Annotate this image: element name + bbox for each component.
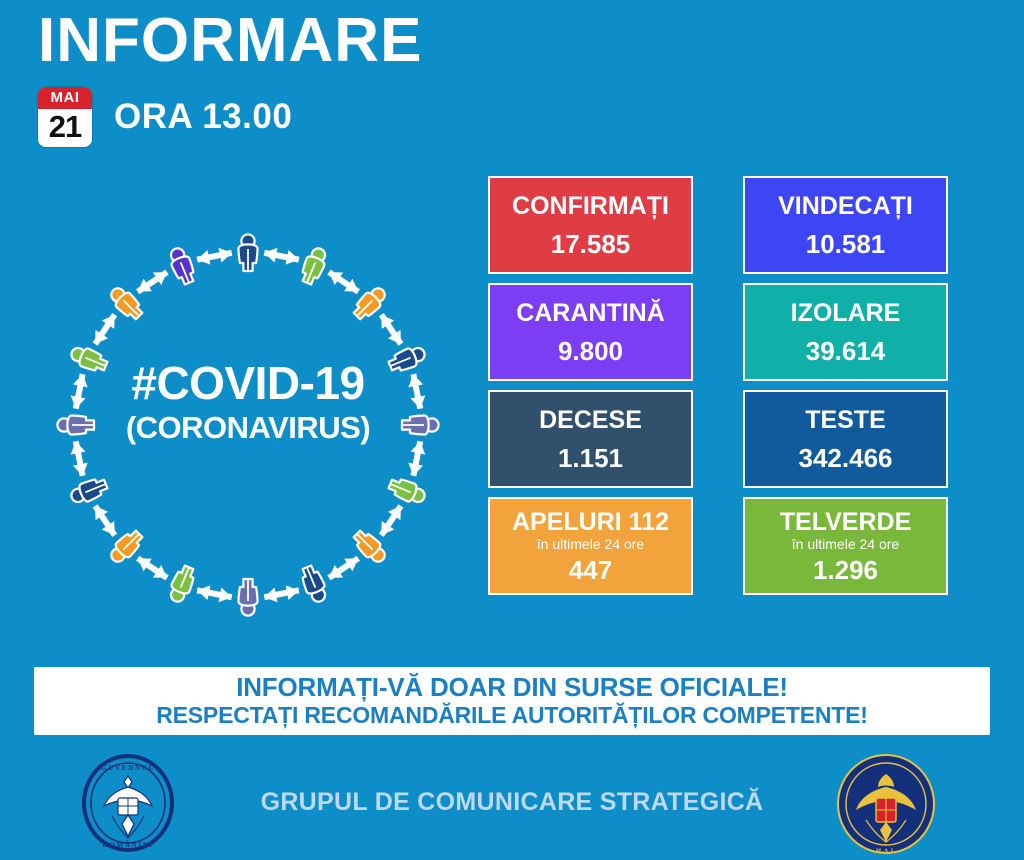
stat-label: IZOLARE bbox=[791, 299, 901, 327]
person-icon bbox=[239, 579, 258, 616]
emblem-right-text-bottom: M.A.I. bbox=[876, 848, 896, 854]
person-icon bbox=[239, 234, 258, 271]
footer: GUVERNUL ROMÂNIEI GRUPUL DE COMUNICARE S… bbox=[0, 752, 1024, 856]
emblem-left-text-top: GUVERNUL bbox=[101, 764, 155, 772]
person-icon bbox=[387, 343, 428, 375]
stat-value: 342.466 bbox=[799, 443, 893, 473]
stat-label: DECESE bbox=[539, 406, 642, 434]
stat-value: 39.614 bbox=[806, 336, 886, 366]
calendar-day: 21 bbox=[38, 109, 92, 147]
calendar-month: MAI bbox=[38, 87, 92, 109]
official-sources-banner: INFORMAȚI-VĂ DOAR DIN SURSE OFICIALE! RE… bbox=[34, 667, 990, 735]
stat-value: 17.585 bbox=[551, 229, 631, 259]
person-icon bbox=[298, 564, 330, 605]
person-icon bbox=[68, 343, 109, 375]
people-circle-icon: #COVID-19 (CORONAVIRUS) bbox=[38, 215, 458, 635]
stat-card-confirmati[interactable]: CONFIRMAȚI 17.585 bbox=[488, 176, 693, 274]
departamentul-situatii-urgenta-emblem: M.A.I. bbox=[836, 754, 936, 859]
date-bar: MAI 21 ORA 13.00 bbox=[38, 87, 638, 147]
stat-label: CONFIRMAȚI bbox=[512, 192, 669, 220]
stat-card-decese[interactable]: DECESE 1.151 bbox=[488, 390, 693, 488]
stat-sublabel: în ultimele 24 ore bbox=[537, 536, 644, 553]
stat-label: TELVERDE bbox=[780, 508, 912, 536]
stat-label: TESTE bbox=[805, 406, 886, 434]
stat-card-teste[interactable]: TESTE 342.466 bbox=[743, 390, 948, 488]
person-icon bbox=[68, 475, 109, 507]
calendar-icon: MAI 21 bbox=[38, 87, 92, 147]
report-hour: ORA 13.00 bbox=[114, 97, 292, 137]
stat-value: 1.296 bbox=[813, 555, 878, 585]
stat-label: APELURI 112 bbox=[512, 508, 669, 536]
stat-value: 447 bbox=[569, 555, 612, 585]
stat-value: 10.581 bbox=[806, 229, 886, 259]
stat-card-vindecati[interactable]: VINDECAȚI 10.581 bbox=[743, 176, 948, 274]
stat-card-apeluri-112[interactable]: APELURI 112 în ultimele 24 ore 447 bbox=[488, 497, 693, 595]
stat-value: 1.151 bbox=[558, 443, 623, 473]
emblem-left-text-bottom: ROMÂNIEI bbox=[102, 839, 153, 849]
stats-grid: CONFIRMAȚI 17.585 VINDECAȚI 10.581 CARAN… bbox=[488, 176, 960, 595]
person-icon bbox=[298, 245, 330, 286]
person-icon bbox=[402, 416, 439, 435]
person-icon bbox=[387, 475, 428, 507]
stat-card-telverde[interactable]: TELVERDE în ultimele 24 ore 1.296 bbox=[743, 497, 948, 595]
banner-line-1: INFORMAȚI-VĂ DOAR DIN SURSE OFICIALE! bbox=[236, 673, 788, 702]
person-icon bbox=[166, 564, 198, 605]
header: INFORMARE MAI 21 ORA 13.00 bbox=[38, 8, 638, 147]
stat-card-carantina[interactable]: CARANTINĂ 9.800 bbox=[488, 283, 693, 381]
stat-value: 9.800 bbox=[558, 336, 623, 366]
stat-label: CARANTINĂ bbox=[516, 299, 665, 327]
stat-sublabel: în ultimele 24 ore bbox=[792, 536, 899, 553]
stat-card-izolare[interactable]: IZOLARE 39.614 bbox=[743, 283, 948, 381]
banner-line-2: RESPECTAȚI RECOMANDĂRILE AUTORITĂȚILOR C… bbox=[156, 702, 868, 729]
stat-label: VINDECAȚI bbox=[778, 192, 913, 220]
person-icon bbox=[166, 245, 198, 286]
page-title: INFORMARE bbox=[38, 8, 638, 73]
person-icon bbox=[57, 416, 94, 435]
